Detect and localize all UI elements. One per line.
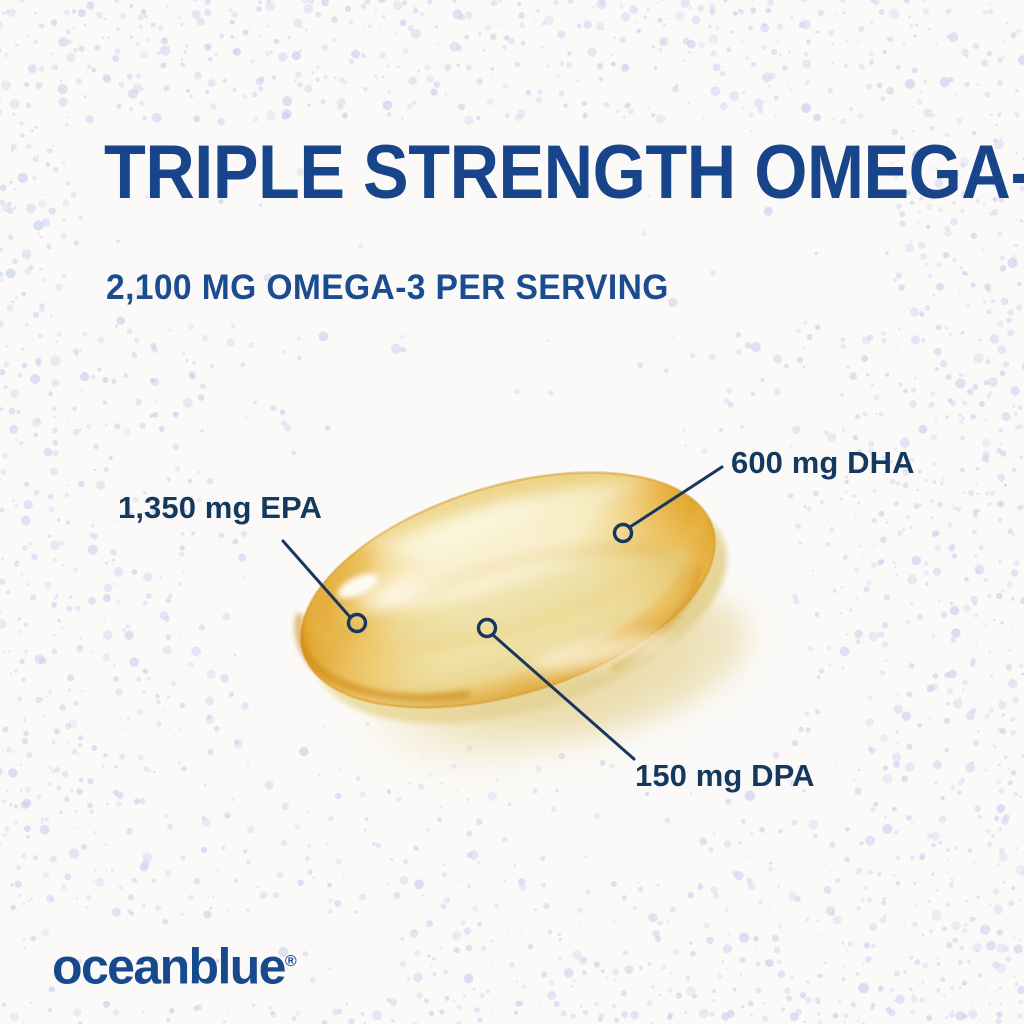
- leader-line-dpa: [493, 635, 634, 759]
- leader-line-dha: [630, 467, 722, 527]
- callout-label-epa: 1,350 mg EPA: [118, 490, 322, 526]
- product-subtitle: 2,100 MG OMEGA-3 PER SERVING: [106, 268, 669, 308]
- callout-marker-dha: [615, 525, 632, 542]
- callout-marker-epa: [349, 615, 366, 632]
- product-infographic: TRIPLE STRENGTH OMEGA-3 2,100 MG OMEGA-3…: [0, 0, 1024, 1024]
- callout-marker-dpa: [479, 620, 496, 637]
- page-title: TRIPLE STRENGTH OMEGA-3: [104, 134, 824, 212]
- brand-logo: oceanblue®: [52, 934, 297, 995]
- capsule-body: [246, 428, 775, 754]
- registered-trademark-icon: ®: [285, 953, 297, 970]
- capsule-highlight: [334, 490, 671, 679]
- brand-logo-text: oceanblue: [52, 939, 285, 995]
- leader-line-epa: [283, 541, 350, 617]
- capsule-side-wall: [285, 444, 755, 768]
- callout-label-dha: 600 mg DHA: [731, 445, 915, 481]
- callout-label-dpa: 150 mg DPA: [635, 758, 815, 794]
